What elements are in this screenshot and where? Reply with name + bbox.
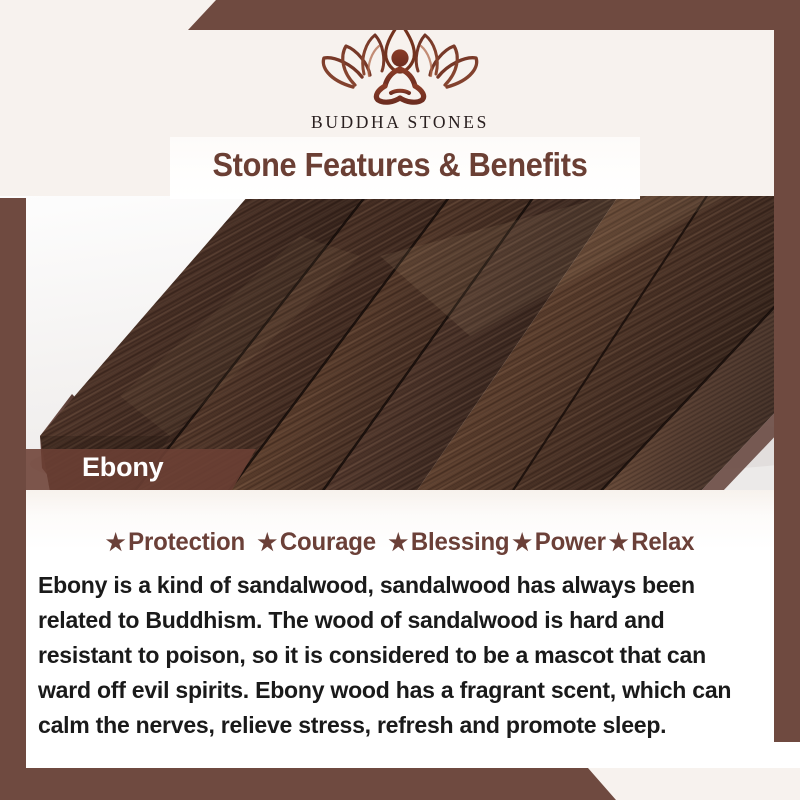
infographic-card: Ebony ★Protection★Courage★Blessing★Power… (0, 0, 800, 800)
benefit-item-blessing: ★Blessing (388, 528, 509, 557)
brand-name: BUDDHA STONES (285, 112, 515, 133)
benefit-item-power: ★Power (512, 528, 606, 557)
benefit-label: Protection (128, 528, 245, 556)
brand-logo: BUDDHA STONES (285, 14, 515, 133)
benefit-item-protection: ★Protection (106, 528, 245, 557)
frame-right (774, 0, 800, 742)
star-icon: ★ (512, 529, 532, 555)
benefit-item-courage: ★Courage (257, 528, 376, 557)
ebony-wood-photo (0, 196, 800, 492)
star-icon: ★ (388, 529, 408, 555)
page-title: Stone Features & Benefits (28, 146, 772, 184)
description-text: Ebony is a kind of sandalwood, sandalwoo… (38, 568, 757, 743)
frame-left (0, 198, 26, 800)
wood-photo-illustration (0, 196, 800, 492)
stone-name-label: Ebony (82, 452, 164, 483)
frame-bottom-left (0, 768, 800, 800)
star-icon: ★ (106, 529, 126, 555)
benefits-list: ★Protection★Courage★Blessing★Power★Relax (16, 528, 784, 557)
star-icon: ★ (609, 529, 629, 555)
star-icon: ★ (257, 529, 277, 555)
benefit-label: Courage (280, 528, 376, 556)
benefit-item-relax: ★Relax (609, 528, 695, 557)
benefit-label: Blessing (411, 528, 510, 556)
benefit-label: Power (535, 528, 606, 556)
benefit-label: Relax (631, 528, 694, 556)
